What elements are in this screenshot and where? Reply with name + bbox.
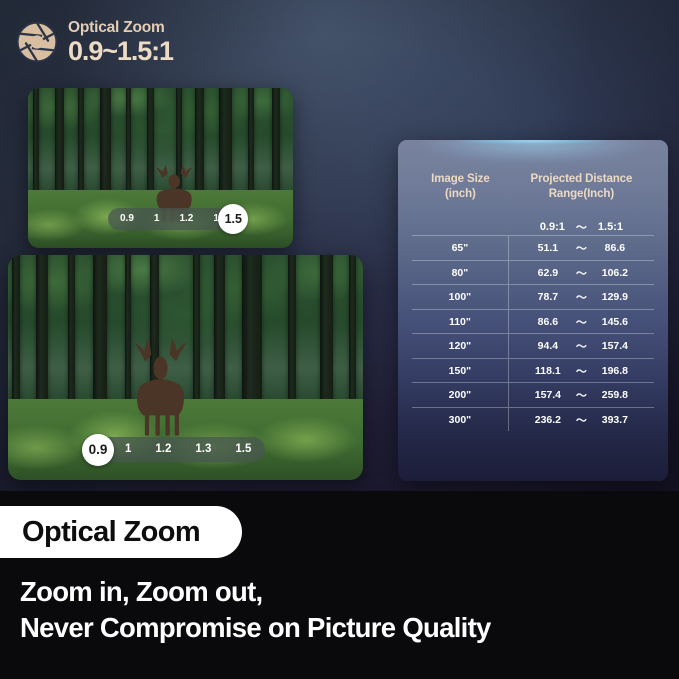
cell-distance-max: 393.7 xyxy=(598,414,632,426)
cell-distance-range: 94.4 〜 157.4 xyxy=(509,334,654,358)
header-image-size-line1: Image Size xyxy=(412,172,509,187)
zoom-step-1[interactable]: 1 xyxy=(154,214,160,224)
tilde-icon: 〜 xyxy=(576,289,587,305)
table-row: 65" 51.1 〜 86.6 xyxy=(412,235,654,260)
table-row: 110" 86.6 〜 145.6 xyxy=(412,309,654,334)
tagline-line-2: Never Compromise on Picture Quality xyxy=(20,610,640,646)
cell-distance-range: 51.1 〜 86.6 xyxy=(509,236,654,260)
cell-distance-range: 62.9 〜 106.2 xyxy=(509,261,654,285)
hero-section: Optical Zoom 0.9~1.5:1 xyxy=(0,0,679,491)
header-image-size: Image Size (inch) xyxy=(412,172,509,201)
cell-distance-range: 78.7 〜 129.9 xyxy=(509,285,654,309)
table-subheader-row: 0.9:1 〜 1.5:1 xyxy=(412,219,654,235)
table-row: 80" 62.9 〜 106.2 xyxy=(412,260,654,285)
zoom-step-2[interactable]: 1.2 xyxy=(179,214,193,224)
cell-image-size: 65" xyxy=(412,236,509,260)
brand-ratio: 0.9~1.5:1 xyxy=(68,38,173,65)
tilde-icon: 〜 xyxy=(576,219,587,235)
footer-section: Optical Zoom Zoom in, Zoom out, Never Co… xyxy=(0,491,679,679)
table-row: 150" 118.1 〜 196.8 xyxy=(412,358,654,383)
header-projected-distance-line2: Range(Inch) xyxy=(509,187,654,202)
cell-distance-max: 145.6 xyxy=(598,316,632,328)
cell-image-size: 300" xyxy=(412,408,509,432)
cell-distance-max: 129.9 xyxy=(598,291,632,303)
tagline: Zoom in, Zoom out, Never Compromise on P… xyxy=(20,574,640,647)
subheader-ratios: 0.9:1 〜 1.5:1 xyxy=(509,219,654,235)
cell-distance-min: 157.4 xyxy=(531,389,565,401)
cell-distance-range: 157.4 〜 259.8 xyxy=(509,383,654,407)
cell-distance-min: 94.4 xyxy=(531,340,565,352)
tilde-icon: 〜 xyxy=(576,387,587,403)
cell-distance-range: 118.1 〜 196.8 xyxy=(509,359,654,383)
cell-image-size: 120" xyxy=(412,334,509,358)
subheader-max-ratio: 1.5:1 xyxy=(598,221,623,233)
table-row: 300" 236.2 〜 393.7 xyxy=(412,407,654,432)
cell-image-size: 150" xyxy=(412,359,509,383)
cell-distance-range: 86.6 〜 145.6 xyxy=(509,310,654,334)
photo-zoomed-out: 0.9 1 1.2 1.3 1.5 xyxy=(8,255,363,480)
cell-distance-min: 78.7 xyxy=(531,291,565,303)
zoom-step-2[interactable]: 1.2 xyxy=(155,444,171,456)
cell-image-size: 200" xyxy=(412,383,509,407)
tagline-line-1: Zoom in, Zoom out, xyxy=(20,574,640,610)
cell-distance-min: 86.6 xyxy=(531,316,565,328)
table-header-row: Image Size (inch) Projected Distance Ran… xyxy=(412,172,654,201)
cell-distance-min: 51.1 xyxy=(531,242,565,254)
cell-distance-max: 106.2 xyxy=(598,267,632,279)
cell-distance-max: 157.4 xyxy=(598,340,632,352)
cell-image-size: 110" xyxy=(412,310,509,334)
subheader-min-ratio: 0.9:1 xyxy=(540,221,565,233)
header-projected-distance: Projected Distance Range(Inch) xyxy=(509,172,654,201)
aperture-icon xyxy=(15,20,59,64)
zoom-step-4[interactable]: 1.5 xyxy=(235,444,251,456)
table-row: 100" 78.7 〜 129.9 xyxy=(412,284,654,309)
header-image-size-line2: (inch) xyxy=(412,187,509,202)
zoom-step-1[interactable]: 1 xyxy=(125,444,131,456)
cell-distance-max: 259.8 xyxy=(598,389,632,401)
optical-zoom-pill: Optical Zoom xyxy=(0,506,242,558)
table-row: 200" 157.4 〜 259.8 xyxy=(412,382,654,407)
cell-distance-max: 86.6 xyxy=(598,242,632,254)
tilde-icon: 〜 xyxy=(576,314,587,330)
card-glow-halo xyxy=(418,140,648,162)
cell-distance-min: 118.1 xyxy=(531,365,565,377)
zoom-step-3[interactable]: 1.3 xyxy=(195,444,211,456)
table-row: 120" 94.4 〜 157.4 xyxy=(412,333,654,358)
zoom-scale-bar-top[interactable]: 0.9 1 1.2 1.3 1.5 xyxy=(108,208,239,230)
spec-table-card: Image Size (inch) Projected Distance Ran… xyxy=(398,140,668,481)
cell-distance-max: 196.8 xyxy=(598,365,632,377)
header-projected-distance-line1: Projected Distance xyxy=(509,172,654,187)
cell-image-size: 80" xyxy=(412,261,509,285)
cell-image-size: 100" xyxy=(412,285,509,309)
zoom-scale-bar-bottom[interactable]: 0.9 1 1.2 1.3 1.5 xyxy=(93,437,265,462)
tilde-icon: 〜 xyxy=(576,240,587,256)
tilde-icon: 〜 xyxy=(576,265,587,281)
cell-distance-min: 62.9 xyxy=(531,267,565,279)
optical-zoom-pill-label: Optical Zoom xyxy=(22,518,200,547)
deer-subject xyxy=(125,329,196,437)
cell-distance-min: 236.2 xyxy=(531,414,565,426)
cell-distance-range: 236.2 〜 393.7 xyxy=(509,408,654,432)
photo-zoomed-in: 0.9 1 1.2 1.3 1.5 xyxy=(28,88,293,248)
brand-label: Optical Zoom xyxy=(68,20,173,36)
tilde-icon: 〜 xyxy=(576,363,587,379)
tilde-icon: 〜 xyxy=(576,338,587,354)
zoom-step-active[interactable]: 0.9 xyxy=(82,434,114,466)
zoom-step-0[interactable]: 0.9 xyxy=(120,214,134,224)
spec-table: Image Size (inch) Projected Distance Ran… xyxy=(412,172,654,431)
brand-block: Optical Zoom 0.9~1.5:1 xyxy=(15,20,173,65)
tilde-icon: 〜 xyxy=(576,412,587,428)
